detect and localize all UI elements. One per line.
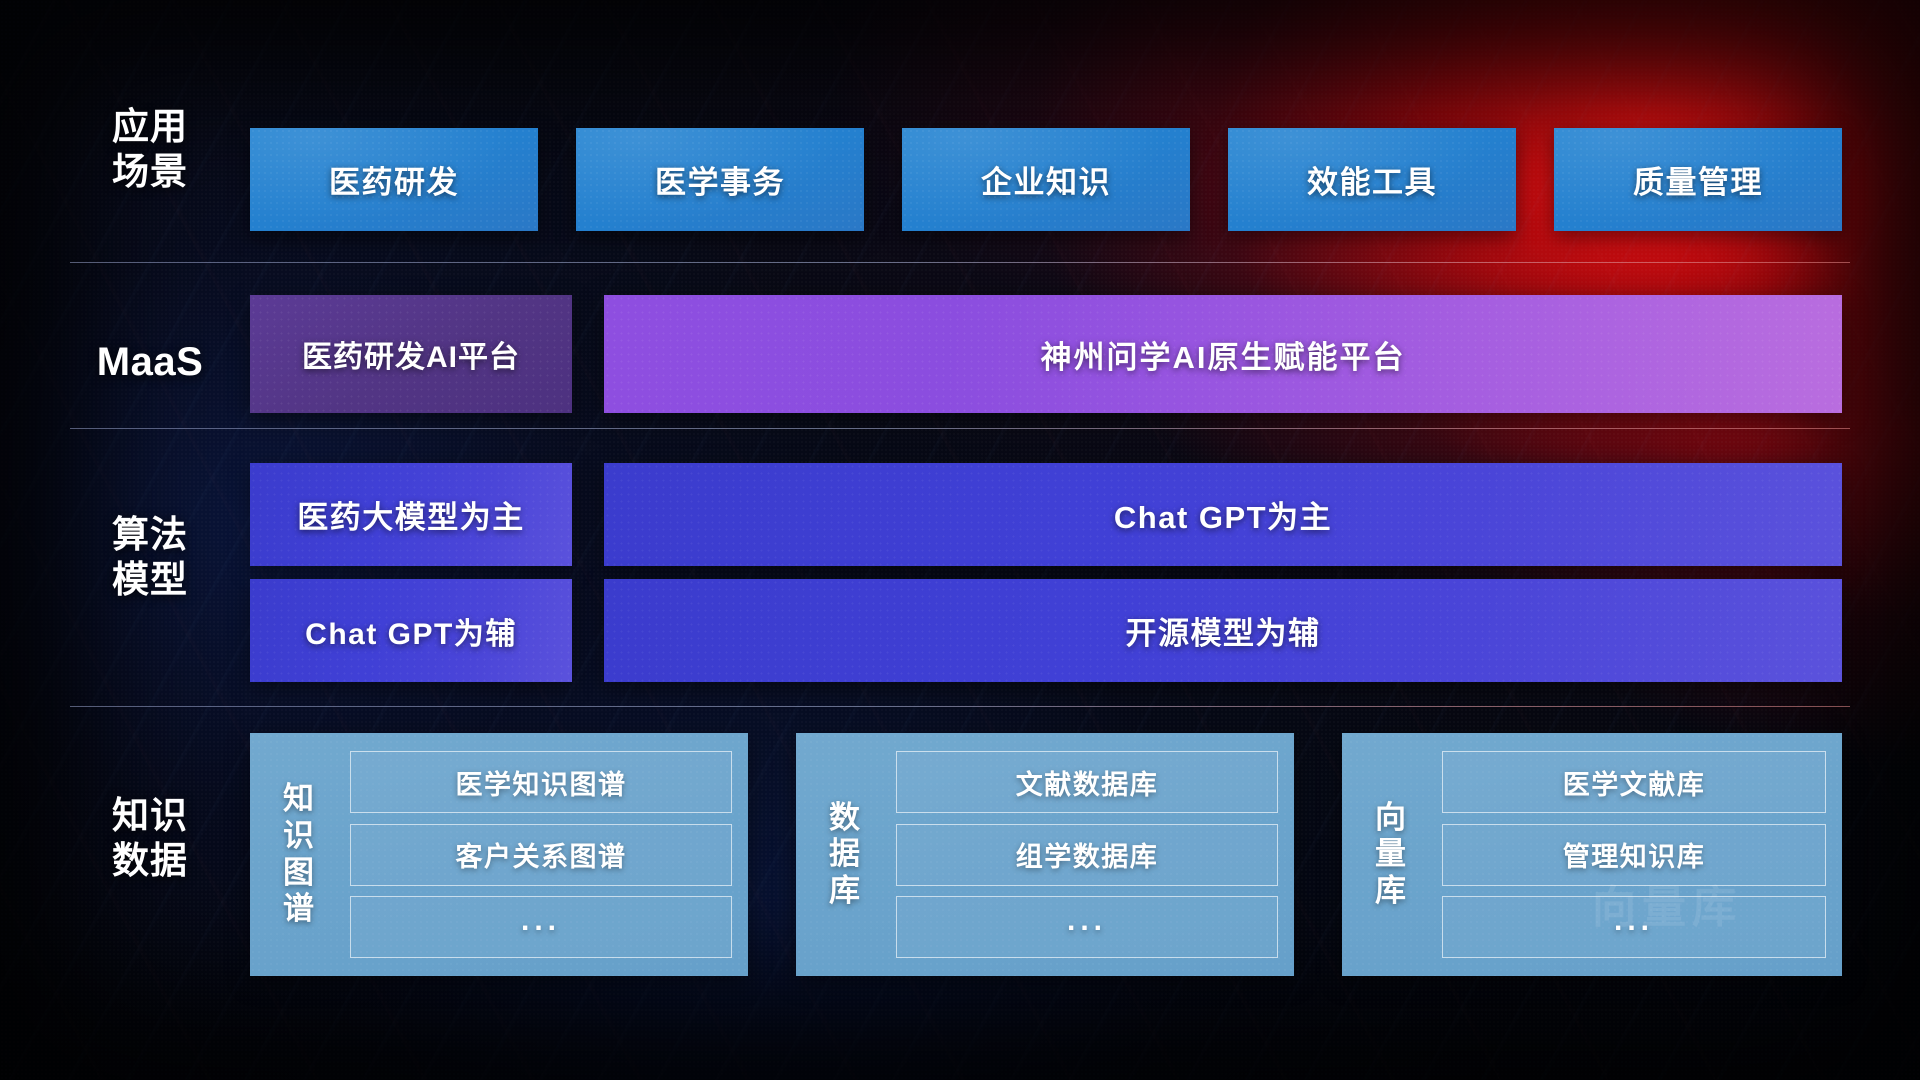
knowledge-group-database[interactable]: 数 据 库 文献数据库 组学数据库 ... — [796, 733, 1294, 976]
app-box-label: 质量管理 — [1633, 157, 1763, 202]
row-label-line: 场景 — [55, 149, 245, 194]
knowledge-item-list: 文献数据库 组学数据库 ... — [884, 746, 1278, 963]
row-label-line: 模型 — [55, 557, 245, 602]
app-box-medicine-rnd[interactable]: 医药研发 — [250, 128, 538, 231]
algo-box-chatgpt-primary[interactable]: Chat GPT为主 — [604, 463, 1842, 566]
row-divider-2 — [70, 428, 1850, 429]
knowledge-title-char: 图 — [283, 855, 315, 892]
knowledge-title-char: 库 — [829, 873, 861, 910]
knowledge-group-title: 向 量 库 — [1352, 746, 1430, 963]
row-label-line: 算法 — [55, 512, 245, 557]
knowledge-item-more[interactable]: ... — [350, 896, 732, 958]
knowledge-group-title: 知 识 图 谱 — [260, 746, 338, 963]
knowledge-item-label: 医学文献库 — [1563, 763, 1706, 802]
algo-box-label: 医药大模型为主 — [297, 492, 525, 537]
row-label-algorithm-model: 算法 模型 — [55, 512, 245, 602]
knowledge-item-label: 管理知识库 — [1563, 835, 1706, 874]
algo-box-chatgpt-secondary[interactable]: Chat GPT为辅 — [250, 579, 572, 682]
architecture-diagram: 应用 场景 医药研发 医学事务 企业知识 效能工具 质量管理 MaaS 医药研发… — [0, 0, 1920, 1080]
app-box-label: 效能工具 — [1307, 157, 1437, 202]
knowledge-item-label: 医学知识图谱 — [456, 763, 627, 802]
app-box-efficiency-tools[interactable]: 效能工具 — [1228, 128, 1516, 231]
app-box-label: 企业知识 — [981, 157, 1111, 202]
knowledge-group-vector-store[interactable]: 向量库 向 量 库 医学文献库 管理知识库 ... — [1342, 733, 1842, 976]
maas-box-shenzhou-wenxue-platform[interactable]: 神州问学AI原生赋能平台 — [604, 295, 1842, 413]
row-label-line: 知识 — [55, 793, 245, 838]
knowledge-item-more[interactable]: ... — [896, 896, 1278, 958]
knowledge-item-label: 文献数据库 — [1016, 763, 1159, 802]
row-label-application-scenario: 应用 场景 — [55, 104, 245, 194]
maas-box-medicine-ai-platform[interactable]: 医药研发AI平台 — [250, 295, 572, 413]
knowledge-item-label: ... — [1067, 904, 1107, 938]
knowledge-item-label: 组学数据库 — [1016, 835, 1159, 874]
app-box-label: 医学事务 — [655, 157, 785, 202]
maas-box-label: 神州问学AI原生赋能平台 — [1041, 332, 1406, 377]
knowledge-item-label: 客户关系图谱 — [456, 835, 627, 874]
knowledge-item[interactable]: 客户关系图谱 — [350, 824, 732, 886]
knowledge-item[interactable]: 文献数据库 — [896, 751, 1278, 813]
knowledge-item-more[interactable]: ... — [1442, 896, 1826, 958]
knowledge-title-char: 量 — [1375, 836, 1407, 873]
knowledge-title-char: 数 — [829, 800, 861, 837]
row-label-line: 数据 — [55, 838, 245, 883]
knowledge-title-char: 谱 — [283, 891, 315, 928]
app-box-quality-management[interactable]: 质量管理 — [1554, 128, 1842, 231]
row-divider-3 — [70, 706, 1850, 707]
algo-box-label: Chat GPT为主 — [1114, 492, 1332, 537]
algo-box-medicine-llm-primary[interactable]: 医药大模型为主 — [250, 463, 572, 566]
app-box-enterprise-knowledge[interactable]: 企业知识 — [902, 128, 1190, 231]
knowledge-title-char: 知 — [283, 781, 315, 818]
row-divider-1 — [70, 262, 1850, 263]
row-label-line: MaaS — [55, 338, 245, 387]
slide-canvas: 应用 场景 医药研发 医学事务 企业知识 效能工具 质量管理 MaaS 医药研发… — [0, 0, 1920, 1080]
knowledge-item[interactable]: 组学数据库 — [896, 824, 1278, 886]
knowledge-group-graph[interactable]: 知 识 图 谱 医学知识图谱 客户关系图谱 ... — [250, 733, 748, 976]
row-label-knowledge-data: 知识 数据 — [55, 793, 245, 883]
knowledge-title-char: 库 — [1375, 873, 1407, 910]
knowledge-title-char: 向 — [1375, 800, 1407, 837]
knowledge-group-title: 数 据 库 — [806, 746, 884, 963]
maas-box-label: 医药研发AI平台 — [302, 332, 520, 376]
knowledge-item-label: ... — [521, 904, 561, 938]
algo-box-label: Chat GPT为辅 — [305, 609, 517, 653]
row-label-line: 应用 — [55, 104, 245, 149]
knowledge-item[interactable]: 医学文献库 — [1442, 751, 1826, 813]
knowledge-title-char: 据 — [829, 836, 861, 873]
knowledge-item-list: 医学知识图谱 客户关系图谱 ... — [338, 746, 732, 963]
app-box-medical-affairs[interactable]: 医学事务 — [576, 128, 864, 231]
knowledge-item-label: ... — [1614, 904, 1654, 938]
knowledge-title-char: 识 — [283, 818, 315, 855]
knowledge-item[interactable]: 管理知识库 — [1442, 824, 1826, 886]
app-box-label: 医药研发 — [329, 157, 459, 202]
knowledge-item-list: 医学文献库 管理知识库 ... — [1430, 746, 1826, 963]
row-label-maas: MaaS — [55, 338, 245, 387]
algo-box-label: 开源模型为辅 — [1126, 608, 1321, 653]
knowledge-item[interactable]: 医学知识图谱 — [350, 751, 732, 813]
algo-box-opensource-secondary[interactable]: 开源模型为辅 — [604, 579, 1842, 682]
